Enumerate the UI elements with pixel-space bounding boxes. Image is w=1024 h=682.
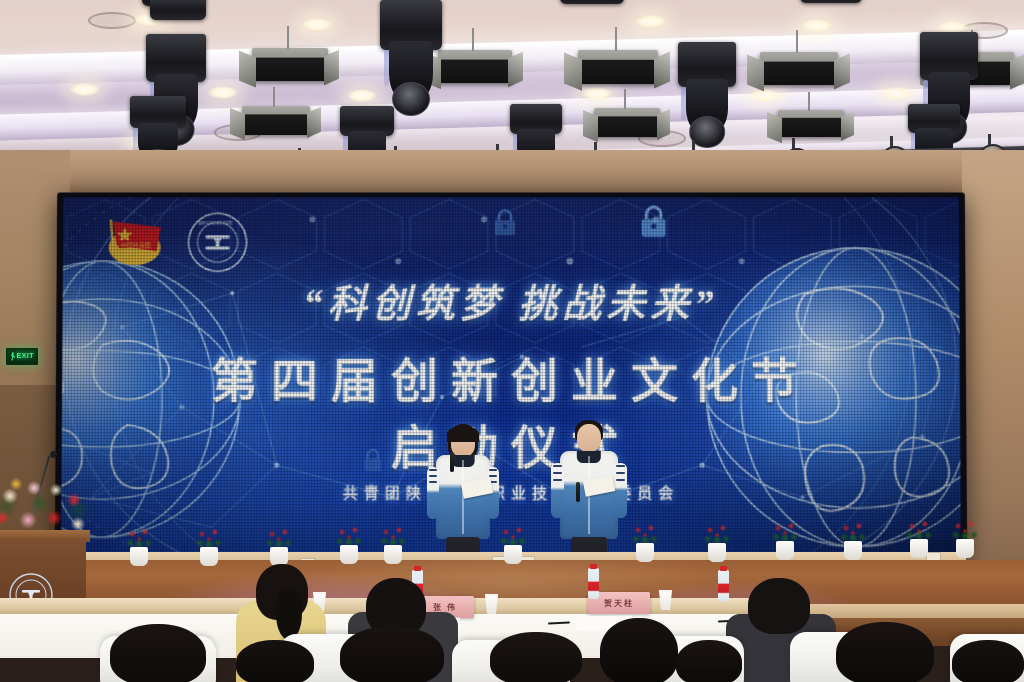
potted-plant — [952, 516, 978, 558]
moving-head-light — [380, 0, 442, 108]
led-screen-frame: 中国共青团 陕西工业职业技术学院 “科创筑梦 挑战未来” 第四届创新 — [55, 193, 967, 559]
podium-flower-arrangement — [0, 466, 100, 548]
potted-plant — [772, 518, 798, 560]
audience-head — [490, 632, 582, 682]
audience-ponytail — [276, 588, 302, 640]
moving-head-light — [800, 0, 862, 16]
fresnel-light — [242, 106, 310, 148]
university-seal: 陕西工业职业技术学院 — [186, 211, 248, 273]
screen-subtitle: 启动仪式 — [61, 409, 960, 478]
audience-head — [952, 640, 1024, 682]
fresnel-light — [594, 108, 660, 150]
potted-plant — [380, 522, 406, 564]
ceiling-downlight — [880, 86, 914, 101]
potted-plant — [840, 518, 866, 560]
fresnel-light — [578, 50, 658, 100]
auditorium-scene: EXIT — [0, 0, 1024, 682]
screen-main-title: 第四届创新创业文化节 — [62, 342, 960, 411]
host-fringe — [447, 426, 479, 442]
potted-plant — [632, 520, 658, 562]
audience-head — [236, 640, 314, 682]
potted-plant — [500, 522, 526, 564]
ceiling-vent — [88, 12, 136, 29]
audience-head — [676, 640, 742, 682]
ceiling-downlight — [800, 18, 834, 33]
potted-plant — [266, 524, 292, 566]
wall-upper-strip — [0, 150, 1024, 196]
audience-head — [836, 622, 934, 682]
water-bottle — [588, 568, 599, 599]
potted-plant — [126, 524, 152, 566]
host-microphone — [576, 482, 580, 502]
ceiling-downlight — [68, 82, 102, 97]
led-screen: 中国共青团 陕西工业职业技术学院 “科创筑梦 挑战未来” 第四届创新 — [61, 197, 961, 553]
potted-plant — [704, 520, 730, 562]
podium-microphone-head — [50, 451, 57, 458]
ceiling-downlight — [300, 17, 334, 32]
potted-plant — [196, 524, 222, 566]
svg-text:中国共青团: 中国共青团 — [121, 241, 151, 249]
exit-sign-label: EXIT — [16, 353, 37, 360]
audience-head — [110, 624, 206, 682]
fresnel-light — [760, 52, 838, 100]
potted-plant — [336, 522, 362, 564]
potted-plant — [906, 516, 932, 558]
svg-text:陕西工业职业技术学院: 陕西工业职业技术学院 — [199, 220, 233, 225]
padlock-icon — [638, 203, 670, 239]
ceiling-downlight — [345, 88, 379, 103]
host-sleeve-left — [551, 463, 564, 518]
exit-sign: EXIT — [6, 348, 38, 365]
host-sleeve-left — [427, 467, 439, 519]
fresnel-light — [438, 50, 512, 98]
communist-youth-league-emblem: 中国共青团 — [105, 213, 171, 267]
ceiling-downlight — [634, 14, 668, 29]
moving-head-light — [560, 0, 624, 18]
audience-head — [600, 618, 678, 682]
ceiling-downlight — [206, 85, 240, 100]
audience-head — [748, 578, 810, 634]
fresnel-light — [778, 110, 844, 150]
screen-organizer: 共青团陕西工业职业技术学院委员会 — [61, 482, 961, 503]
screen-slogan: “科创筑梦 挑战未来” — [62, 273, 959, 329]
moving-head-light — [678, 42, 736, 140]
fresnel-light — [252, 48, 328, 96]
host-sleeve-right — [614, 463, 627, 518]
audience-head — [340, 626, 444, 682]
padlock-icon — [492, 207, 518, 237]
water-bottle — [718, 570, 729, 601]
host-head — [577, 424, 601, 452]
host-microphone — [450, 452, 454, 472]
